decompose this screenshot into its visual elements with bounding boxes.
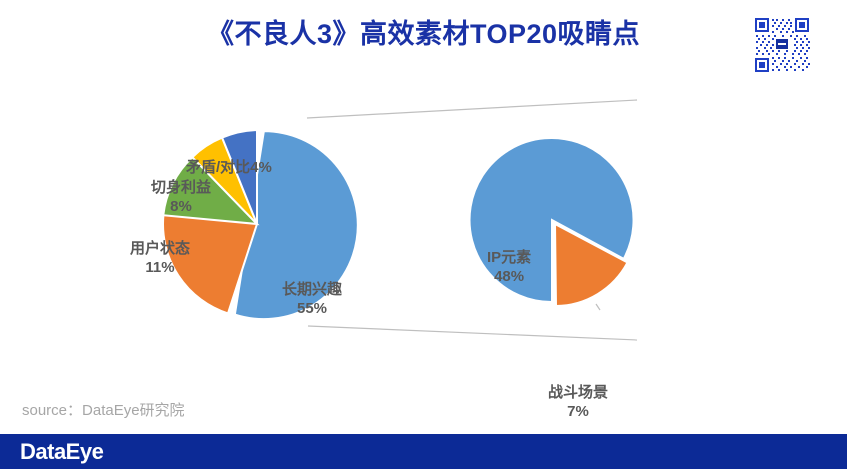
data-label-changqi: 长期兴趣 55% (282, 280, 342, 318)
data-label-maodun: 矛盾/对比4% (186, 158, 272, 177)
source-note: source：DataEye研究院 (22, 399, 185, 420)
data-label-ip-yuansu: IP元素 48% (487, 248, 531, 286)
data-label-zhandou-changjing-name: 战斗场景 (548, 383, 608, 402)
data-label-qieshen: 切身利益 8% (151, 178, 211, 216)
data-label-zhongda-value: 22% (178, 333, 238, 352)
footer-bar: DataEye (0, 434, 847, 469)
leader-line-bottom (308, 326, 637, 340)
data-label-yonghu-name: 用户状态 (130, 239, 190, 258)
data-label-changqi-name: 长期兴趣 (282, 280, 342, 299)
data-label-qieshen-value: 8% (151, 197, 211, 216)
leader-line-top (307, 100, 637, 118)
pie-of-pie-chart: 矛盾/对比4% 切身利益 8% 用户状态 11% 重大事件 22% 长期兴趣 5… (0, 72, 847, 372)
slide-canvas: 《不良人3》高效素材TOP20吸睛点 (0, 0, 847, 469)
data-label-ip-yuansu-name: IP元素 (487, 248, 531, 267)
data-label-maodun-value: 4% (250, 159, 272, 176)
data-label-qieshen-name: 切身利益 (151, 178, 211, 197)
data-label-yonghu-value: 11% (130, 258, 190, 277)
leader-line-zhandou (596, 304, 600, 310)
qr-code-icon[interactable] (751, 14, 813, 76)
page-title: 《不良人3》高效素材TOP20吸睛点 (0, 16, 847, 52)
data-label-zhongda-name: 重大事件 (178, 314, 238, 333)
data-label-maodun-name: 矛盾/对比 (186, 159, 250, 176)
data-label-zhongda: 重大事件 22% (178, 314, 238, 352)
data-label-yonghu: 用户状态 11% (130, 239, 190, 277)
data-label-changqi-value: 55% (282, 299, 342, 318)
brand-logo: DataEye (20, 440, 103, 463)
data-label-zhandou-changjing: 战斗场景 7% (548, 383, 608, 421)
data-label-ip-yuansu-value: 48% (487, 267, 531, 286)
data-label-zhandou-changjing-value: 7% (548, 402, 608, 421)
